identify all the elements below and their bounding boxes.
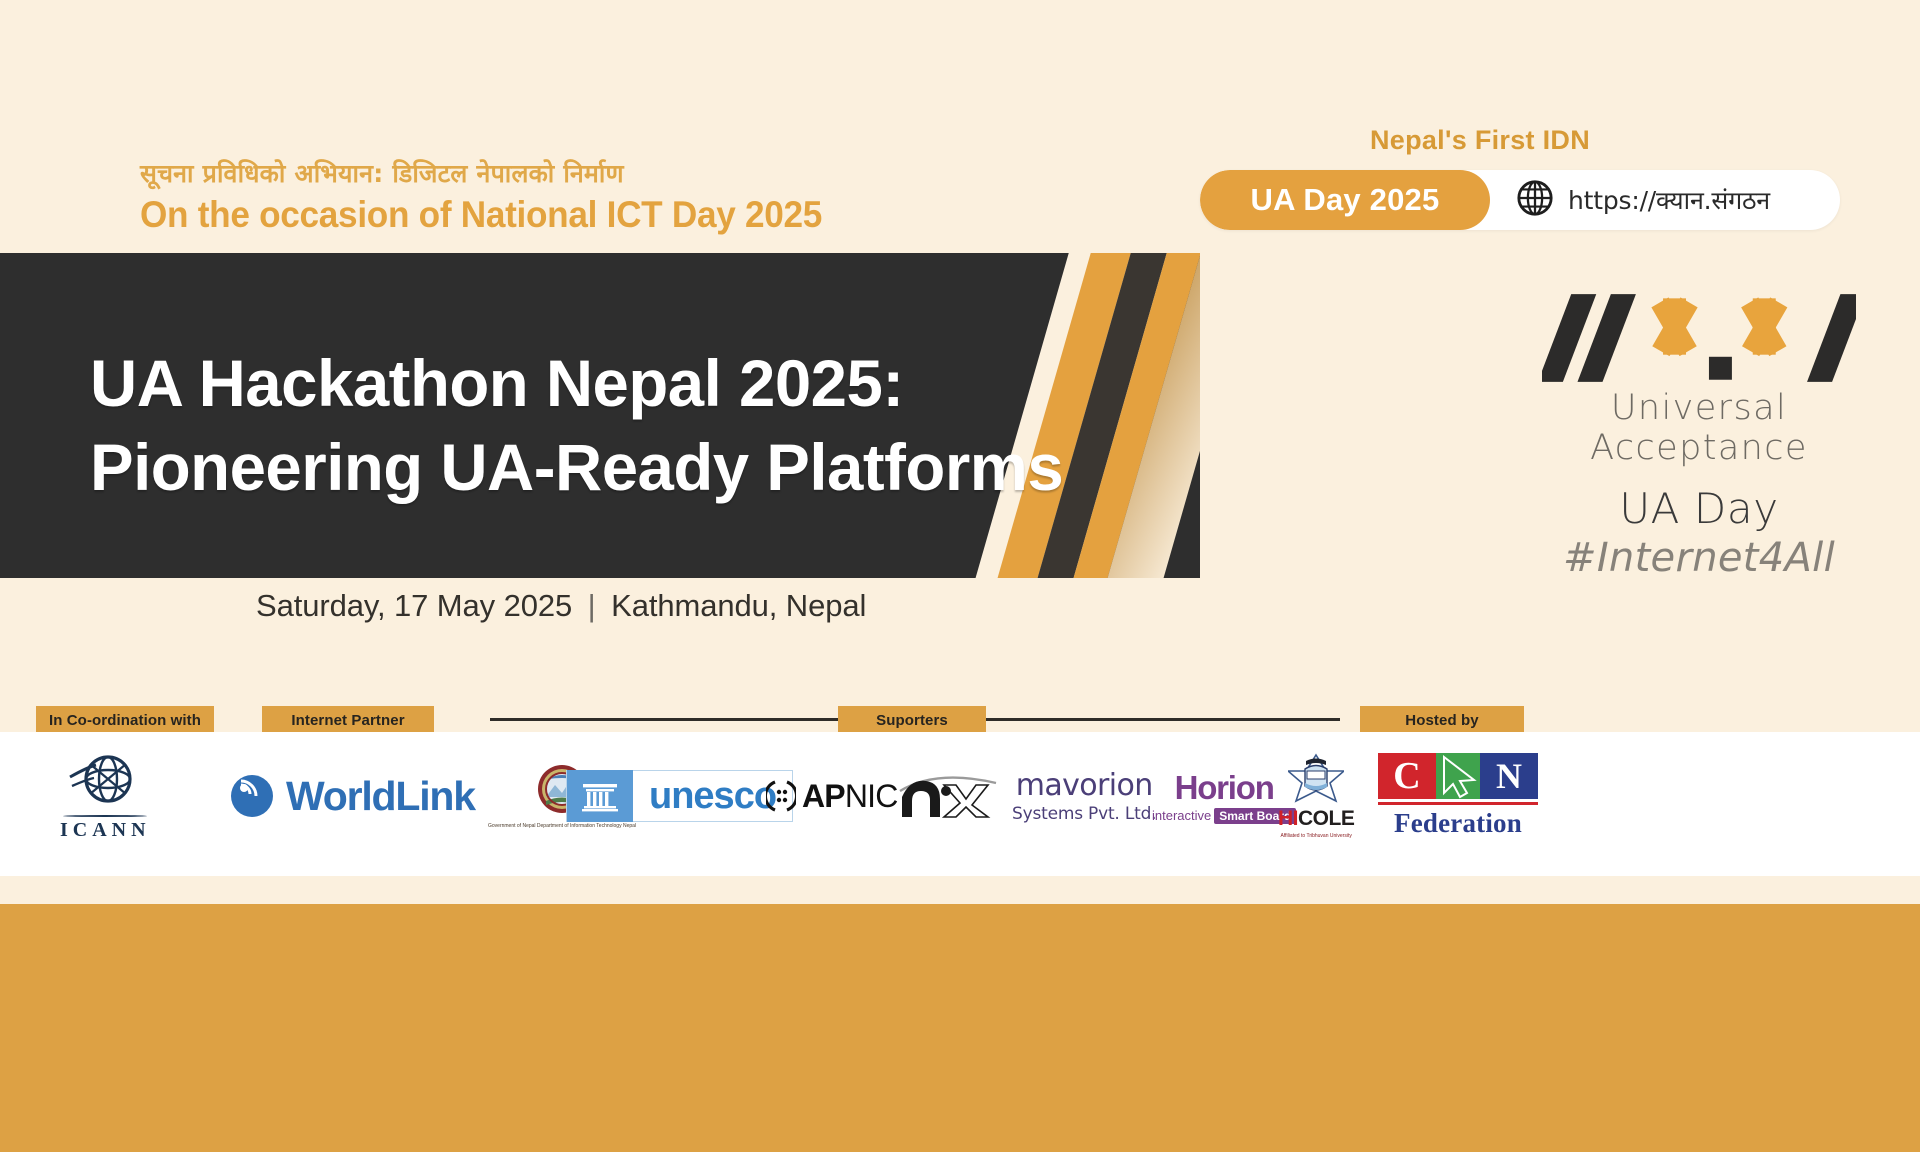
mavorion-wordmark: mavorion (1016, 768, 1153, 803)
horion-tagline: interactive Smart Board (1152, 808, 1296, 824)
event-separator: | (581, 588, 603, 623)
can-green-block (1436, 753, 1480, 799)
logo-hicole[interactable]: HICOLE Affiliated to Tribhuvan Universit… (1278, 732, 1354, 860)
hicole-wordmark: HICOLE (1278, 807, 1354, 831)
ua-day-logo: Universal Acceptance UA Day #Internet4Al… (1534, 290, 1864, 581)
label-rule-right (986, 718, 1340, 721)
icann-globe-icon (68, 751, 142, 813)
globe-icon (1516, 179, 1554, 222)
idn-url-text: https://क्यान.संगठन (1568, 183, 1770, 217)
ict-day-block: सूचना प्रविधिको अभियान: डिजिटल नेपालको न… (140, 160, 858, 236)
can-federation-boxes: C N (1378, 753, 1538, 799)
banner-title-line-1: UA Hackathon Nepal 2025: (90, 341, 1063, 425)
idn-url-bar[interactable]: UA Day 2025 https://क्यान.संगठन (1200, 170, 1840, 230)
label-supporters: Suporters (838, 706, 986, 734)
label-rule-left (490, 718, 840, 721)
logo-can-federation[interactable]: C N Federation (1378, 732, 1538, 860)
hicole-cole: COLE (1298, 807, 1354, 830)
logo-apnic[interactable]: APNIC (766, 732, 898, 860)
can-letter-c: C (1378, 753, 1436, 799)
npix-swoosh-icon (896, 767, 1006, 825)
hicole-crest-icon (1288, 753, 1344, 805)
idn-kicker: Nepal's First IDN (1150, 125, 1870, 156)
worldlink-wordmark: WorldLink (286, 773, 475, 820)
unesco-temple-icon (567, 770, 633, 822)
apnic-dots-icon (766, 779, 796, 813)
horion-wordmark: Horion (1175, 769, 1274, 807)
cursor-arrow-icon (1436, 753, 1480, 799)
logo-npix[interactable] (896, 732, 1006, 860)
banner-title: UA Hackathon Nepal 2025: Pioneering UA-R… (90, 341, 1063, 510)
footer-cream-bar (0, 876, 1920, 904)
footer-gold-bar (0, 904, 1920, 1152)
mavorion-subtitle: Systems Pvt. Ltd. (1012, 804, 1156, 824)
ua-hashtag: #Internet4All (1534, 535, 1864, 581)
sponsor-logo-strip: ICANN WorldLink Government of Nepal Depa… (0, 732, 1920, 860)
ict-tagline-english: On the occasion of National ICT Day 2025 (140, 194, 822, 236)
ua-mark-icon (1542, 290, 1855, 386)
apnic-wordmark: APNIC (802, 778, 898, 815)
can-federation-wordmark: Federation (1394, 808, 1522, 839)
title-banner: UA Hackathon Nepal 2025: Pioneering UA-R… (0, 253, 1200, 578)
unesco-box: unesco (566, 770, 793, 822)
icann-wordmark: ICANN (60, 819, 151, 842)
logo-unesco[interactable]: unesco (566, 732, 793, 860)
event-date: Saturday, 17 May 2025 (256, 588, 572, 623)
event-datebar: Saturday, 17 May 2025 | Kathmandu, Nepal (256, 588, 866, 624)
apnic-ap: AP (802, 778, 845, 814)
footer-white-bar (0, 860, 1920, 876)
worldlink-signal-icon (228, 772, 276, 820)
ua-day-text: UA Day (1534, 484, 1864, 533)
idn-url-group[interactable]: https://क्यान.संगठन (1490, 170, 1770, 230)
banner-title-line-2: Pioneering UA-Ready Platforms (90, 425, 1063, 509)
hicole-caption: Affiliated to Tribhuvan University (1281, 833, 1352, 839)
apnic-nic: NIC (845, 778, 898, 814)
label-coordination: In Co-ordination with (36, 706, 214, 734)
ict-tagline-nepali: सूचना प्रविधिको अभियान: डिजिटल नेपालको न… (140, 160, 858, 188)
ua-day-pill[interactable]: UA Day 2025 (1200, 170, 1490, 230)
icann-underline (63, 815, 147, 817)
label-hosted-by: Hosted by (1360, 706, 1524, 734)
logo-horion[interactable]: Horion interactive Smart Board (1152, 732, 1296, 860)
idn-block: Nepal's First IDN UA Day 2025 https://क्… (1150, 125, 1870, 230)
logo-worldlink[interactable]: WorldLink (228, 732, 475, 860)
ua-universal-acceptance-text: Universal Acceptance (1534, 388, 1864, 468)
event-location: Kathmandu, Nepal (611, 588, 866, 623)
can-letter-n: N (1480, 753, 1538, 799)
label-internet-partner: Internet Partner (262, 706, 434, 734)
can-federation-rule (1378, 802, 1538, 805)
logo-icann[interactable]: ICANN (60, 732, 151, 860)
logo-mavorion[interactable]: mavorion Systems Pvt. Ltd. (1012, 732, 1156, 860)
hicole-hi: HI (1278, 807, 1298, 830)
horion-tagline-light: interactive (1152, 808, 1211, 823)
